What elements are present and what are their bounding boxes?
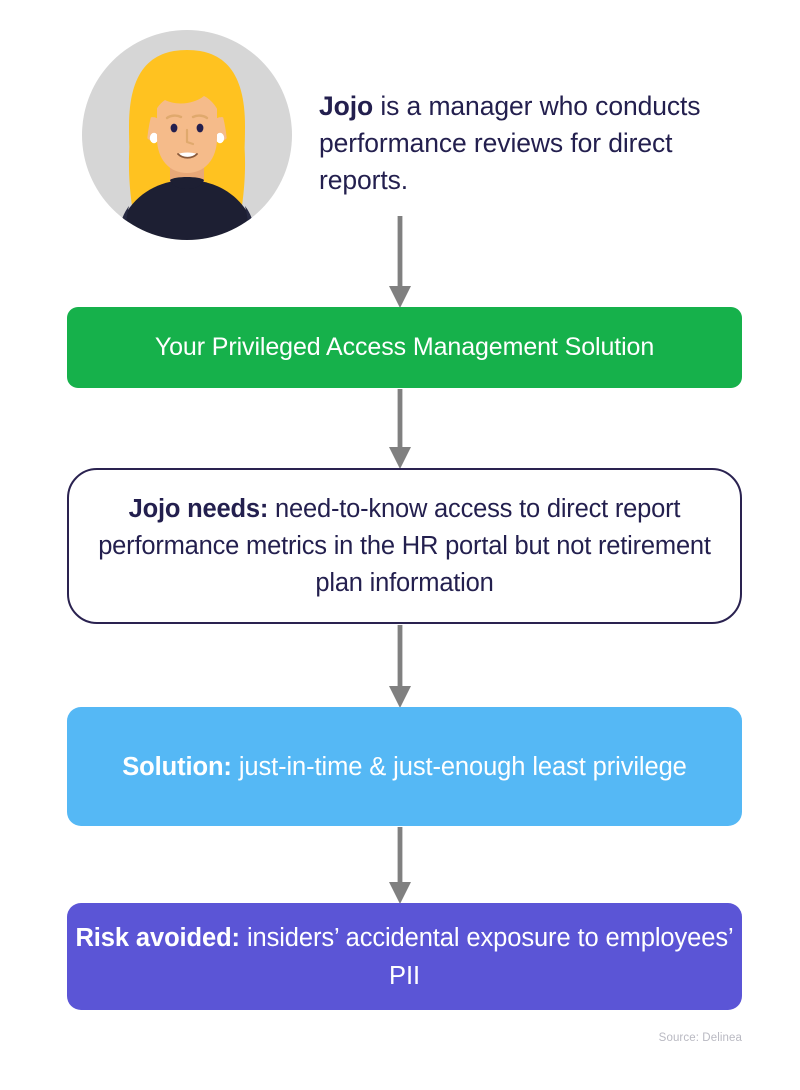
arrow-needs-to-solution bbox=[386, 625, 414, 708]
risk-box-lead: Risk avoided: bbox=[75, 924, 240, 952]
solution-box-text: Solution: just-in-time & just-enough lea… bbox=[67, 748, 742, 786]
risk-box-text: Risk avoided: insiders’ accidental expos… bbox=[67, 919, 742, 995]
arrow-persona-to-solution-banner bbox=[386, 216, 414, 308]
needs-box[interactable]: Jojo needs: need-to-know access to direc… bbox=[67, 468, 742, 624]
needs-box-text: Jojo needs: need-to-know access to direc… bbox=[91, 491, 718, 602]
solution-box-body: just-in-time & just-enough least privile… bbox=[232, 753, 687, 781]
risk-box-body: insiders’ accidental exposure to employe… bbox=[240, 924, 734, 990]
arrow-solution-to-risk bbox=[386, 827, 414, 904]
source-attribution: Source: Delinea bbox=[659, 1032, 742, 1044]
persona-description: Jojo is a manager who conducts performan… bbox=[319, 88, 719, 199]
risk-box[interactable]: Risk avoided: insiders’ accidental expos… bbox=[67, 903, 742, 1010]
avatar-illustration-icon bbox=[82, 30, 292, 240]
solution-banner[interactable]: Your Privileged Access Management Soluti… bbox=[67, 307, 742, 388]
persona-description-rest: is a manager who conducts performance re… bbox=[319, 91, 700, 195]
down-arrow-icon bbox=[386, 827, 414, 904]
solution-banner-label: Your Privileged Access Management Soluti… bbox=[67, 333, 742, 362]
down-arrow-icon bbox=[386, 625, 414, 708]
needs-box-lead: Jojo needs: bbox=[129, 495, 269, 523]
solution-box-lead: Solution: bbox=[122, 753, 232, 781]
persona-name: Jojo bbox=[319, 91, 373, 121]
down-arrow-icon bbox=[386, 389, 414, 469]
down-arrow-icon bbox=[386, 216, 414, 308]
arrow-banner-to-needs bbox=[386, 389, 414, 469]
solution-box[interactable]: Solution: just-in-time & just-enough lea… bbox=[67, 707, 742, 826]
avatar bbox=[82, 30, 292, 240]
infographic-flow: Jojo is a manager who conducts performan… bbox=[0, 0, 800, 1090]
